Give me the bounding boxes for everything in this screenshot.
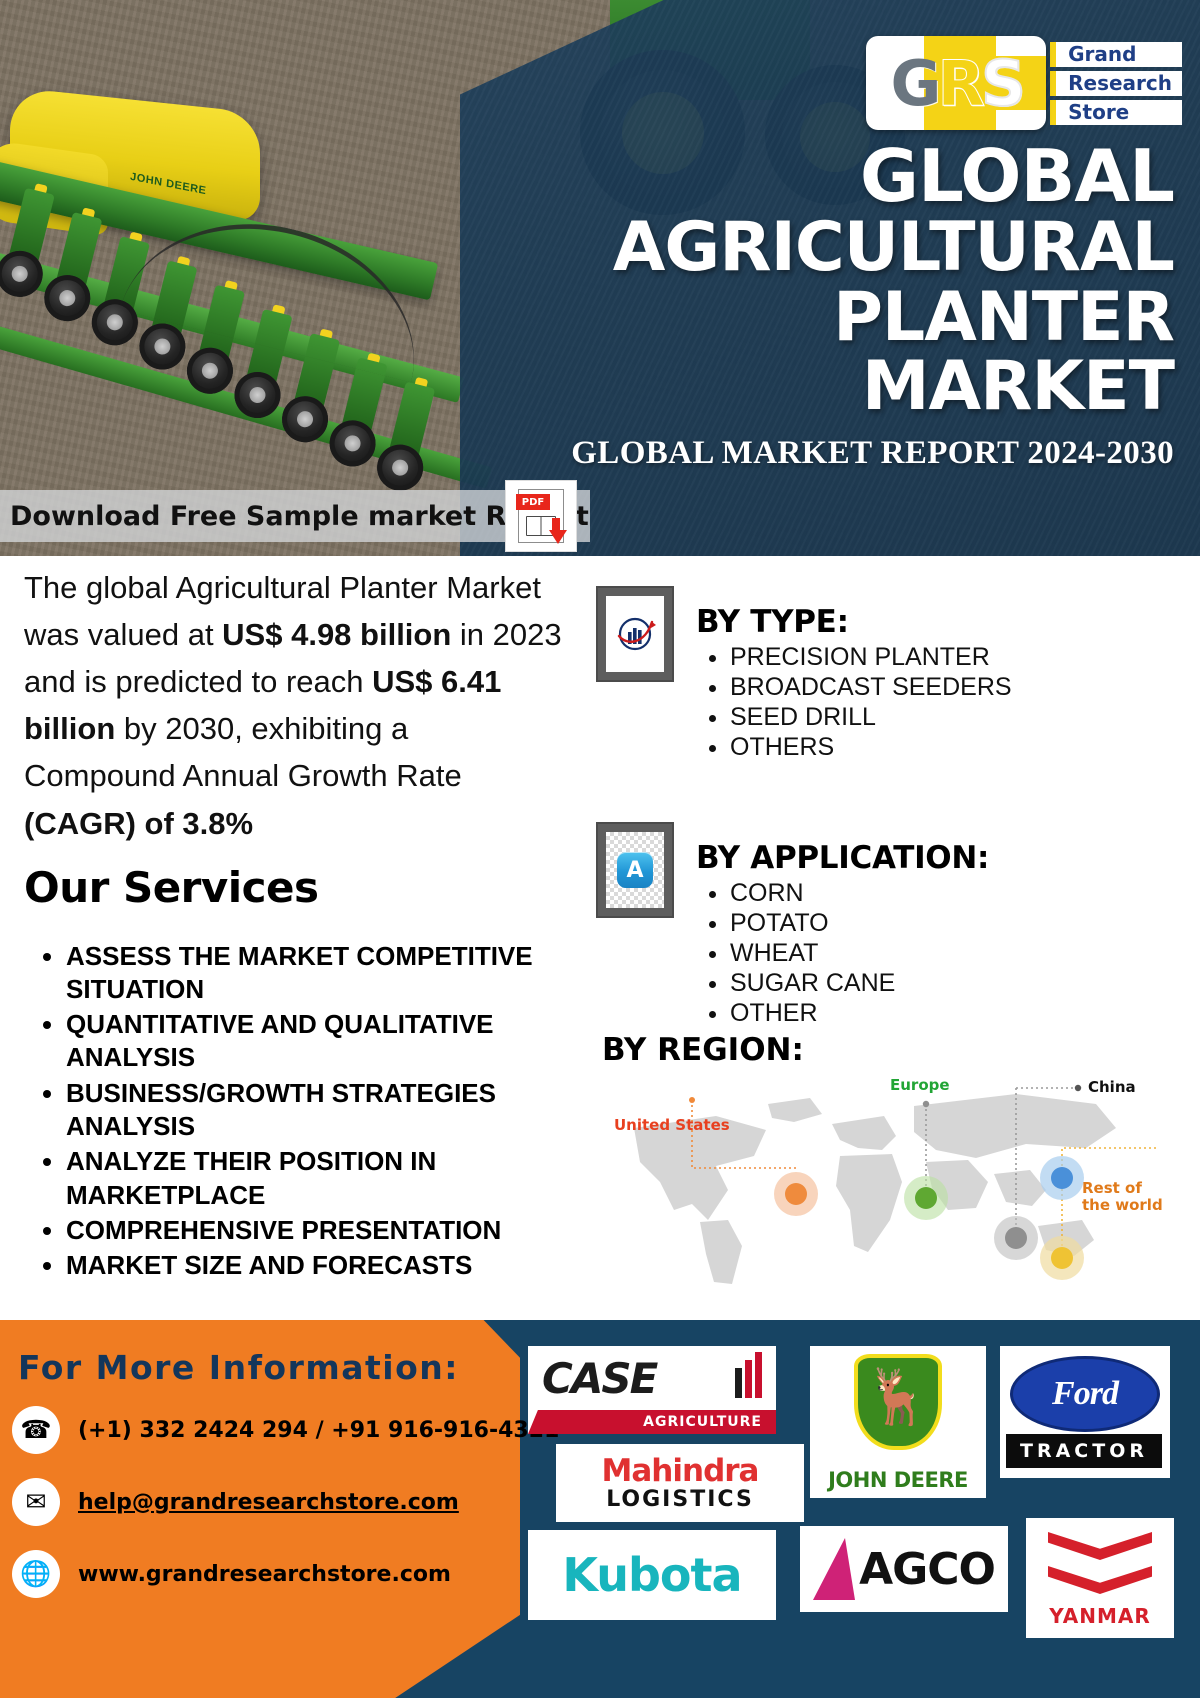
logo-word-research: Research [1050,71,1182,96]
list-item: BUSINESS/GROWTH STRATEGIES ANALYSIS [66,1077,564,1144]
mahindra-sublabel: LOGISTICS [602,1489,759,1511]
europe-connector-dot [923,1101,929,1107]
logo-letter-g: G [890,47,937,120]
page-title: GLOBAL AGRICULTURAL PLANTER MARKET [554,140,1174,422]
content-area: The global Agricultural Planter Market w… [0,556,1200,1346]
partner-logo-grid: CASE AGRICULTURE Mahindra LOGISTICS Kubo… [528,1340,1188,1680]
download-sample-banner[interactable]: Download Free Sample market Report [0,490,590,542]
list-item: QUANTITATIVE AND QUALITATIVE ANALYSIS [66,1008,564,1075]
app-store-icon: A [596,822,674,918]
contact-phone-value: (+1) 332 2424 294 / +91 916-916-4321 [78,1418,559,1443]
logo-word-store: Store [1050,100,1182,125]
ford-oval-icon: Ford [1010,1356,1160,1432]
contact-website-value[interactable]: www.grandresearchstore.com [78,1562,451,1587]
logo-letter-r: R [937,47,981,120]
list-item: OTHER [730,998,1176,1028]
world-map-svg [596,1070,1156,1300]
partner-logo-kubota: Kubota [528,1530,776,1620]
list-item: SUGAR CANE [730,968,1176,998]
right-column: BY TYPE: PRECISION PLANTER BROADCAST SEE… [596,586,1176,1300]
contact-email-value[interactable]: help@grandresearchstore.com [78,1490,459,1515]
list-item: PRECISION PLANTER [730,642,1176,672]
app-store-glyph: A [617,852,653,888]
planter-machine-illustration: JOHN DEERE [0,60,540,530]
agco-wordmark: AGCO [859,1544,995,1595]
list-item: ANALYZE THEIR POSITION IN MARKETPLACE [66,1145,564,1212]
report-subtitle: GLOBAL MARKET REPORT 2024-2030 [554,435,1174,472]
yanmar-chevron-icon-top [1048,1532,1152,1560]
intro-text-1: The global Agricultural Planter [24,570,446,605]
partner-logo-ford-tractor: Ford TRACTOR [1000,1346,1170,1478]
market-summary-paragraph: The global Agricultural Planter Market w… [24,564,564,847]
list-item: POTATO [730,908,1176,938]
yanmar-wordmark: YANMAR [1026,1604,1174,1628]
case-ih-bars-icon [735,1352,762,1398]
list-item: ASSESS THE MARKET COMPETITIVE SITUATION [66,940,564,1007]
ford-tractor-sublabel: TRACTOR [1006,1434,1162,1468]
list-item: BROADCAST SEEDERS [730,672,1176,702]
services-list: ASSESS THE MARKET COMPETITIVE SITUATION … [24,940,564,1283]
contact-website-row[interactable]: 🌐 www.grandresearchstore.com [12,1550,451,1598]
contact-heading: For More Information: [18,1348,459,1387]
by-application-section: A BY APPLICATION: CORN POTATO WHEAT SUGA… [596,822,1176,1028]
by-type-section: BY TYPE: PRECISION PLANTER BROADCAST SEE… [596,586,1176,762]
partner-logo-mahindra: Mahindra LOGISTICS [556,1444,804,1522]
partner-logo-yanmar: YANMAR [1026,1518,1174,1638]
case-ih-wordmark: CASE [542,1354,656,1403]
logo-word-grand: Grand [1050,42,1182,67]
partner-logo-john-deere: 🦌 JOHN DEERE [810,1346,986,1498]
list-item: OTHERS [730,732,1176,762]
download-sample-label: Download Free Sample market Report [0,501,589,532]
case-ih-sublabel: AGRICULTURE [528,1410,776,1434]
grs-logo-mark: G R S [866,36,1046,130]
partner-logo-agco: AGCO [800,1526,1008,1612]
kubota-wordmark: Kubota [562,1548,741,1602]
contact-email-row[interactable]: ✉ help@grandresearchstore.com [12,1478,459,1526]
yanmar-chevron-icon-bottom [1048,1566,1152,1594]
our-services-heading: Our Services [24,863,564,912]
pdf-download-icon[interactable]: PDF [505,480,577,552]
pdf-badge-label: PDF [516,494,550,510]
envelope-icon: ✉ [12,1478,60,1526]
contact-phone-row[interactable]: ☎ (+1) 332 2424 294 / +91 916-916-4321 [12,1406,559,1454]
globe-icon: 🌐 [12,1550,60,1598]
chart-globe-icon [596,586,674,682]
hero-banner: JOHN DEERE G R S Grand R [0,0,1200,556]
deer-icon: 🦌 [864,1370,931,1424]
list-item: SEED DRILL [730,702,1176,732]
logo-letter-s: S [981,47,1022,120]
region-label-rest-of-world: Rest of the world [1082,1180,1168,1215]
ford-wordmark: Ford [1052,1375,1118,1413]
title-line-1: GLOBAL [554,140,1174,213]
by-type-list: PRECISION PLANTER BROADCAST SEEDERS SEED… [696,642,1176,762]
partner-logo-case-ih: CASE AGRICULTURE [528,1346,776,1434]
intro-value-2023: US$ 4.98 billion [222,617,451,652]
brand-logo-words: Grand Research Store [1050,36,1182,130]
mahindra-wordmark: Mahindra [602,1456,759,1487]
intro-cagr: (CAGR) of 3.8% [24,806,253,841]
brand-logo[interactable]: G R S Grand Research Store [866,36,1182,130]
region-label-united-states: United States [614,1116,730,1134]
by-region-title: BY REGION: [602,1032,1176,1068]
john-deere-wordmark: JOHN DEERE [810,1468,986,1492]
list-item: COMPREHENSIVE PRESENTATION [66,1214,564,1247]
by-type-title: BY TYPE: [696,604,1176,640]
footer: For More Information: ☎ (+1) 332 2424 29… [0,1320,1200,1698]
list-item: WHEAT [730,938,1176,968]
china-connector-dot [1075,1085,1081,1091]
list-item: CORN [730,878,1176,908]
by-application-list: CORN POTATO WHEAT SUGAR CANE OTHER [696,878,1176,1028]
world-map-chart: United States Europe China Rest of the w… [596,1070,1156,1300]
by-application-title: BY APPLICATION: [696,840,1176,876]
list-item: MARKET SIZE AND FORECASTS [66,1249,564,1282]
us-connector-dot [689,1097,695,1103]
phone-icon: ☎ [12,1406,60,1454]
region-label-europe: Europe [890,1076,950,1094]
region-label-china: China [1088,1078,1136,1096]
agco-triangle-icon [813,1538,855,1600]
left-column: The global Agricultural Planter Market w… [24,564,564,1284]
chart-globe-icon-svg [611,610,659,658]
title-line-2: AGRICULTURAL [554,213,1174,282]
title-line-3: PLANTER MARKET [554,283,1174,422]
